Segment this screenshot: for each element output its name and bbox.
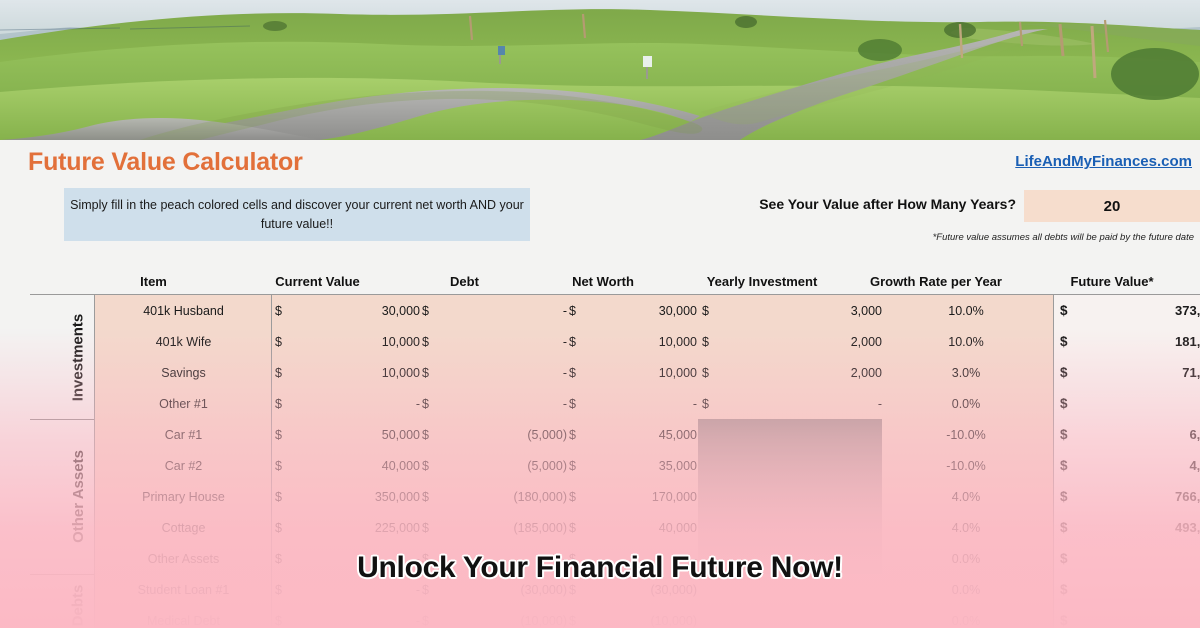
cell-net-worth[interactable]: 45,000 [569,419,697,450]
page-title: Future Value Calculator [28,148,303,177]
cell-growth-rate[interactable]: 0.0% [886,388,1046,419]
cell-growth-rate[interactable]: 4.0% [886,512,1046,543]
cell-growth-rate[interactable]: -10.0% [886,419,1046,450]
spreadsheet-area: Future Value Calculator LifeAndMyFinance… [0,140,1200,628]
winding-road-illustration [0,0,1200,140]
cell-yearly-investment[interactable]: 2,000 [702,326,882,357]
years-input[interactable]: 20 [1024,190,1200,222]
cell-item[interactable]: Other #1 [96,388,271,419]
column-header-net-worth: Net Worth [539,268,667,294]
table-section-other-assets: Other AssetsCar #1$50,000$(5,000)$45,000… [30,419,1200,574]
financial-table: Item Current Value Debt Net Worth Yearly… [0,268,1200,628]
table-row[interactable]: Medical Debt$-$(10,000)$(10,000)0.0%$- [30,605,1200,628]
cell-future-value: - [1070,388,1200,419]
cell-net-worth[interactable]: 10,000 [569,326,697,357]
cell-net-worth[interactable]: 10,000 [569,357,697,388]
cell-debt[interactable]: (10,000) [422,605,567,628]
site-link[interactable]: LifeAndMyFinances.com [1015,153,1192,170]
cell-net-worth[interactable]: 35,000 [569,450,697,481]
cell-current-value[interactable]: 40,000 [275,450,420,481]
cell-debt[interactable]: - [422,295,567,326]
cell-current-value[interactable]: - [275,543,420,574]
table-row[interactable]: Cottage$225,000$(185,000)$40,0004.0%$493… [30,512,1200,543]
cell-net-worth[interactable]: 40,000 [569,512,697,543]
table-row[interactable]: Student Loan #1$-$(30,000)$(30,000)0.0%$… [30,574,1200,605]
cell-net-worth[interactable]: (10,000) [569,605,697,628]
cell-debt[interactable]: - [422,357,567,388]
cell-item[interactable]: 401k Wife [96,326,271,357]
cell-growth-rate[interactable]: 0.0% [886,574,1046,605]
yearly-investment-disabled-block [698,419,882,574]
column-header-current-value: Current Value [245,268,390,294]
cell-growth-rate[interactable]: 10.0% [886,295,1046,326]
currency-symbol-future-value: $ [1060,388,1068,419]
currency-symbol-future-value: $ [1060,574,1068,605]
cell-current-value[interactable]: 30,000 [275,295,420,326]
table-header-row: Item Current Value Debt Net Worth Yearly… [0,268,1200,294]
currency-symbol-future-value: $ [1060,357,1068,388]
cell-current-value[interactable]: 10,000 [275,357,420,388]
table-row[interactable]: Car #2$40,000$(5,000)$35,000-10.0%$4,863 [30,450,1200,481]
cell-growth-rate[interactable]: 0.0% [886,543,1046,574]
cell-net-worth[interactable]: 30,000 [569,295,697,326]
table-row[interactable]: Car #1$50,000$(5,000)$45,000-10.0%$6,079 [30,419,1200,450]
cell-net-worth[interactable]: - [569,543,697,574]
table-row[interactable]: Primary House$350,000$(180,000)$170,0004… [30,481,1200,512]
cell-debt[interactable]: (180,000) [422,481,567,512]
cell-future-value: - [1070,605,1200,628]
cell-future-value: 766,893 [1070,481,1200,512]
table-row[interactable]: Other Assets$-$-$-0.0%$- [30,543,1200,574]
table-row[interactable]: 401k Wife$10,000$-$10,000$2,00010.0%$181… [30,326,1200,357]
cell-future-value: 373,650 [1070,295,1200,326]
cell-net-worth[interactable]: 170,000 [569,481,697,512]
cell-item[interactable]: Primary House [96,481,271,512]
instruction-note: Simply fill in the peach colored cells a… [64,188,530,241]
cell-net-worth[interactable]: - [569,388,697,419]
cell-debt[interactable]: (30,000) [422,574,567,605]
cell-future-value: 4,863 [1070,450,1200,481]
cell-item[interactable]: Student Loan #1 [96,574,271,605]
cell-item[interactable]: Medical Debt [96,605,271,628]
currency-symbol-future-value: $ [1060,326,1068,357]
currency-symbol-future-value: $ [1060,450,1068,481]
cell-item[interactable]: 401k Husband [96,295,271,326]
cell-growth-rate[interactable]: -10.0% [886,450,1046,481]
cell-growth-rate[interactable]: 4.0% [886,481,1046,512]
cell-future-value: 6,079 [1070,419,1200,450]
table-row[interactable]: 401k Husband$30,000$-$30,000$3,00010.0%$… [30,295,1200,326]
cell-item[interactable]: Savings [96,357,271,388]
cell-future-value: 181,825 [1070,326,1200,357]
column-header-debt: Debt [392,268,537,294]
cell-future-value: 493,003 [1070,512,1200,543]
cell-debt[interactable]: (185,000) [422,512,567,543]
cell-debt[interactable]: - [422,388,567,419]
cell-net-worth[interactable]: (30,000) [569,574,697,605]
cell-current-value[interactable]: - [275,574,420,605]
column-header-item: Item [66,268,241,294]
cell-growth-rate[interactable]: 10.0% [886,326,1046,357]
cell-current-value[interactable]: - [275,605,420,628]
cell-yearly-investment[interactable]: - [702,388,882,419]
table-row[interactable]: Other #1$-$-$-$-0.0%$- [30,388,1200,419]
cell-item[interactable]: Car #2 [96,450,271,481]
cell-yearly-investment[interactable]: 2,000 [702,357,882,388]
column-header-future-value: Future Value* [1024,268,1200,294]
cell-future-value: - [1070,574,1200,605]
cell-current-value[interactable]: 10,000 [275,326,420,357]
future-value-footnote: *Future value assumes all debts will be … [933,232,1194,243]
cell-item[interactable]: Other Assets [96,543,271,574]
currency-symbol-future-value: $ [1060,419,1068,450]
cell-growth-rate[interactable]: 3.0% [886,357,1046,388]
cell-current-value[interactable]: 50,000 [275,419,420,450]
cell-debt[interactable]: (5,000) [422,450,567,481]
screenshot-root: Future Value Calculator LifeAndMyFinance… [0,0,1200,628]
cell-current-value[interactable]: 350,000 [275,481,420,512]
table-section-debts: DebtsStudent Loan #1$-$(30,000)$(30,000)… [30,574,1200,628]
hero-banner-image [0,0,1200,140]
cell-future-value: - [1070,543,1200,574]
cell-item[interactable]: Car #1 [96,419,271,450]
cell-current-value[interactable]: - [275,388,420,419]
cell-future-value: 71,802 [1070,357,1200,388]
cell-growth-rate[interactable]: 0.0% [886,605,1046,628]
cell-debt[interactable]: - [422,326,567,357]
table-row[interactable]: Savings$10,000$-$10,000$2,0003.0%$71,802 [30,357,1200,388]
currency-symbol-future-value: $ [1060,605,1068,628]
currency-symbol-future-value: $ [1060,512,1068,543]
cell-item[interactable]: Cottage [96,512,271,543]
currency-symbol-future-value: $ [1060,481,1068,512]
column-header-yearly-investment: Yearly Investment [672,268,852,294]
cell-current-value[interactable]: 225,000 [275,512,420,543]
currency-symbol-future-value: $ [1060,543,1068,574]
cell-yearly-investment[interactable]: 3,000 [702,295,882,326]
years-question-label: See Your Value after How Many Years? [700,196,1016,212]
column-header-growth-rate: Growth Rate per Year [856,268,1016,294]
currency-symbol-future-value: $ [1060,295,1068,326]
cell-debt[interactable]: - [422,543,567,574]
cell-debt[interactable]: (5,000) [422,419,567,450]
table-section-investments: Investments401k Husband$30,000$-$30,000$… [30,295,1200,419]
